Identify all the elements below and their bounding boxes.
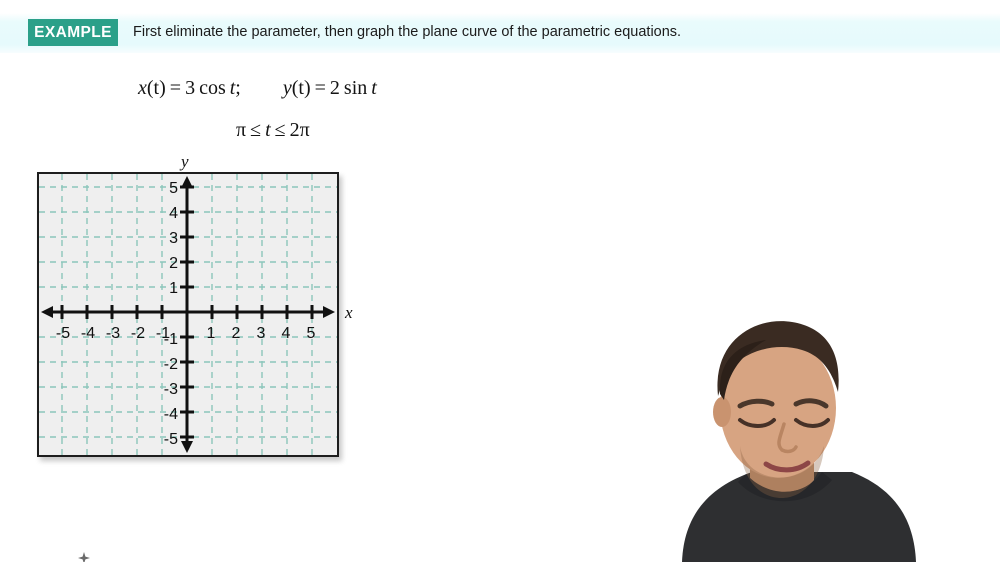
- eq1-y-coeff: 2: [330, 77, 340, 99]
- coordinate-grid-svg: -5 -4 -3 -2 -1 1 2 3 4 5 5 4 3 2 1 -1 -2…: [39, 174, 337, 455]
- lesson-slide: EXAMPLE First eliminate the parameter, t…: [0, 0, 1000, 562]
- equation-line-2: π≤t≤2π: [236, 119, 310, 142]
- eq1-x-fn: cos: [199, 77, 226, 99]
- y-tick-label: 4: [169, 205, 178, 222]
- presenter-ear-left: [713, 397, 731, 427]
- y-tick-label: -2: [164, 356, 178, 373]
- eq2-relation-1: ≤: [250, 119, 261, 141]
- eq1-x-arg: (t): [147, 77, 166, 99]
- eq1-y-var: t: [371, 77, 377, 99]
- x-tick-label: -5: [56, 325, 70, 342]
- x-axis-name-label: x: [345, 303, 353, 323]
- eq1-x-coeff: 3: [185, 77, 195, 99]
- x-tick-label: 3: [257, 325, 266, 342]
- presenter-video: [600, 300, 1000, 562]
- eq2-lower-bound: π: [236, 119, 246, 141]
- eq2-parameter: t: [265, 119, 271, 141]
- eq1-y-arg: (t): [292, 77, 311, 99]
- y-tick-label: -3: [164, 381, 178, 398]
- y-tick-label: 2: [169, 255, 178, 272]
- x-tick-label: 5: [307, 325, 316, 342]
- example-badge: EXAMPLE: [28, 19, 118, 46]
- y-tick-label: 1: [169, 280, 178, 297]
- x-tick-label: -4: [81, 325, 95, 342]
- x-tick-label: 4: [282, 325, 291, 342]
- y-tick-label: -4: [164, 406, 178, 423]
- coordinate-grid-figure: -5 -4 -3 -2 -1 1 2 3 4 5 5 4 3 2 1 -1 -2…: [37, 172, 339, 457]
- y-tick-label: 5: [169, 180, 178, 197]
- eq2-upper-bound: 2π: [290, 119, 310, 141]
- eq1-y-fn: sin: [344, 77, 367, 99]
- y-tick-label: -1: [164, 331, 178, 348]
- y-tick-label: -5: [164, 431, 178, 448]
- x-tick-label: -3: [106, 325, 120, 342]
- presenter-illustration: [600, 300, 1000, 562]
- eq2-relation-2: ≤: [275, 119, 286, 141]
- eq1-equals-1: =: [170, 77, 181, 99]
- x-tick-label: 1: [207, 325, 216, 342]
- x-tick-label: 2: [232, 325, 241, 342]
- eq1-y-name: y: [283, 77, 292, 99]
- x-tick-label: -2: [131, 325, 145, 342]
- eq1-separator: ;: [235, 77, 241, 99]
- y-tick-label: 3: [169, 230, 178, 247]
- y-axis-name-label: y: [181, 152, 189, 172]
- equation-line-1: x(t)=3cost;y(t)=2sint: [138, 77, 377, 100]
- eq1-equals-2: =: [315, 77, 326, 99]
- bottom-marker-icon: [78, 551, 90, 562]
- eq1-x-name: x: [138, 77, 147, 99]
- example-prompt-text: First eliminate the parameter, then grap…: [133, 24, 681, 40]
